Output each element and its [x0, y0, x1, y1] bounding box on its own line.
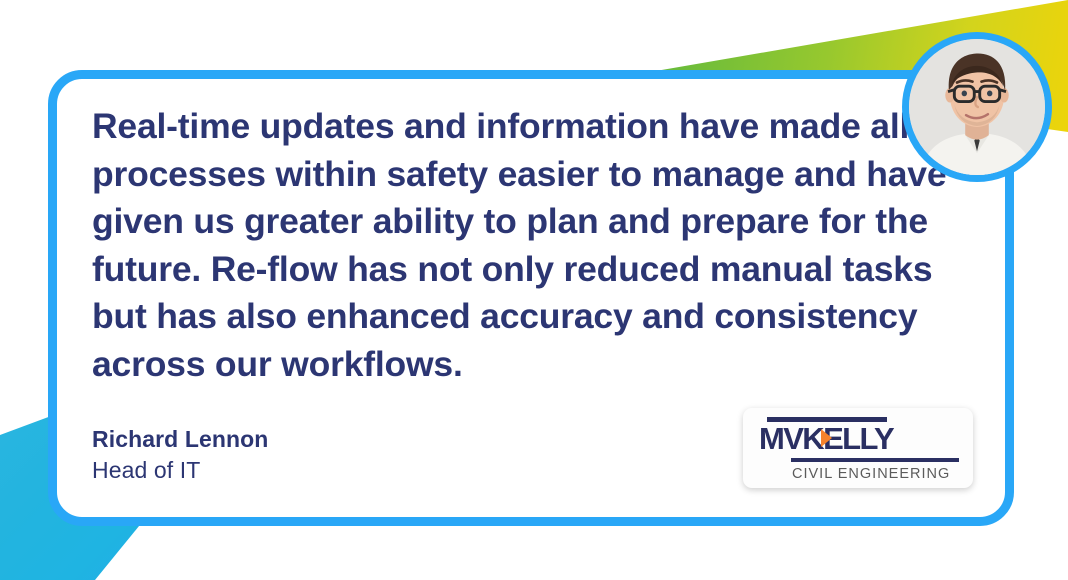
- quote-text: Real-time updates and information have m…: [92, 103, 972, 388]
- logo-tagline: CIVIL ENGINEERING: [792, 465, 950, 483]
- logo-bottom-bar: [791, 458, 959, 462]
- avatar: [902, 32, 1052, 182]
- company-logo: MVKELLY CIVIL ENGINEERING: [743, 408, 973, 488]
- triangle-icon: [821, 429, 832, 447]
- testimonial-graphic: Real-time updates and information have m…: [0, 0, 1068, 580]
- logo-wordmark-wrapper: MVKELLY: [759, 424, 959, 454]
- avatar-portrait-icon: [909, 39, 1045, 175]
